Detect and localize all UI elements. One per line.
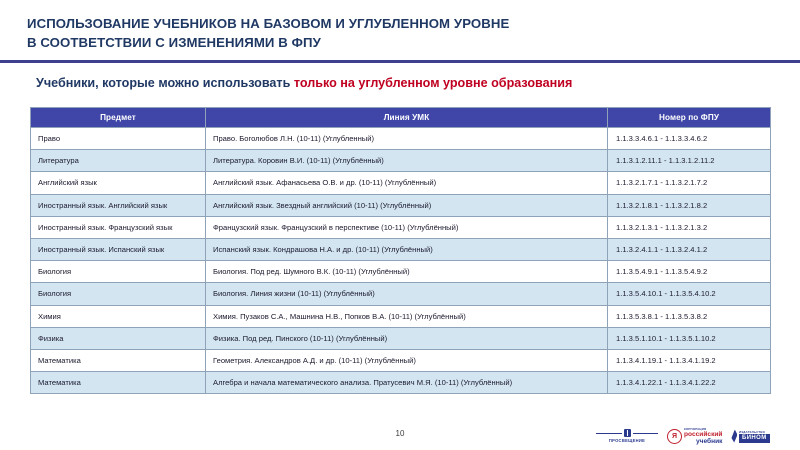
cell-fpu-number: 1.1.3.4.1.19.1 - 1.1.3.4.1.19.2 <box>608 349 771 371</box>
binom-wordmark: ИЗДАТЕЛЬСТВО БИНОМ <box>739 430 770 443</box>
table-row: ХимияХимия. Пузаков С.А., Машнина Н.В., … <box>31 305 771 327</box>
rule-right <box>633 433 659 435</box>
wordmark-line-2: учебник <box>684 438 722 445</box>
cell-umk-line: Испанский язык. Кондрашова Н.А. и др. (1… <box>206 238 608 260</box>
cell-umk-line: Биология. Линия жизни (10-11) (Углублённ… <box>206 283 608 305</box>
cell-subject: Химия <box>31 305 206 327</box>
cell-umk-line: Английский язык. Звездный английский (10… <box>206 194 608 216</box>
table-header-row: Предмет Линия УМК Номер по ФПУ <box>31 108 771 128</box>
textbooks-table: Предмет Линия УМК Номер по ФПУ ПравоПрав… <box>30 107 771 394</box>
cell-fpu-number: 1.1.3.5.4.10.1 - 1.1.3.5.4.10.2 <box>608 283 771 305</box>
table-head: Предмет Линия УМК Номер по ФПУ <box>31 108 771 128</box>
cell-umk-line: Геометрия. Александров А.Д. и др. (10-11… <box>206 349 608 371</box>
wordmark-line-1: российский <box>684 431 722 438</box>
table-row: Иностранный язык. Испанский языкИспански… <box>31 238 771 260</box>
column-header-subject: Предмет <box>31 108 206 128</box>
page-title-line-1: ИСПОЛЬЗОВАНИЕ УЧЕБНИКОВ НА БАЗОВОМ И УГЛ… <box>27 14 767 33</box>
cell-fpu-number: 1.1.3.2.4.1.1 - 1.1.3.2.4.1.2 <box>608 238 771 260</box>
rossiyskiy-uchebnik-wordmark: КОРПОРАЦИЯ российский учебник <box>684 427 722 445</box>
cell-subject: Иностранный язык. Английский язык <box>31 194 206 216</box>
page-title: ИСПОЛЬЗОВАНИЕ УЧЕБНИКОВ НА БАЗОВОМ И УГЛ… <box>27 14 767 52</box>
cell-umk-line: Биология. Под ред. Шумного В.К. (10-11) … <box>206 261 608 283</box>
page-title-line-2: В СООТВЕТСТВИИ С ИЗМЕНЕНИЯМИ В ФПУ <box>27 33 767 52</box>
cell-umk-line: Алгебра и начала математического анализа… <box>206 372 608 394</box>
textbooks-table-container: Предмет Линия УМК Номер по ФПУ ПравоПрав… <box>30 107 770 394</box>
cell-fpu-number: 1.1.3.5.3.8.1 - 1.1.3.5.3.8.2 <box>608 305 771 327</box>
column-header-fpu-number: Номер по ФПУ <box>608 108 771 128</box>
table-row: МатематикаГеометрия. Александров А.Д. и … <box>31 349 771 371</box>
title-divider <box>0 60 800 63</box>
table-row: МатематикаАлгебра и начала математическо… <box>31 372 771 394</box>
cell-subject: Биология <box>31 283 206 305</box>
table-row: БиологияБиология. Под ред. Шумного В.К. … <box>31 261 771 283</box>
section-subtitle: Учебники, которые можно использовать тол… <box>36 76 572 90</box>
cell-fpu-number: 1.1.3.2.1.7.1 - 1.1.3.2.1.7.2 <box>608 172 771 194</box>
column-header-umk-line: Линия УМК <box>206 108 608 128</box>
cell-fpu-number: 1.1.3.1.2.11.1 - 1.1.3.1.2.11.2 <box>608 150 771 172</box>
table-row: Иностранный язык. Английский языкАнглийс… <box>31 194 771 216</box>
table-row: ЛитератураЛитература. Коровин В.И. (10-1… <box>31 150 771 172</box>
cell-umk-line: Химия. Пузаков С.А., Машнина Н.В., Попко… <box>206 305 608 327</box>
table-body: ПравоПраво. Боголюбов Л.Н. (10-11) (Углу… <box>31 128 771 394</box>
cell-fpu-number: 1.1.3.5.4.9.1 - 1.1.3.5.4.9.2 <box>608 261 771 283</box>
cell-subject: Математика <box>31 372 206 394</box>
cell-umk-line: Английский язык. Афанасьева О.В. и др. (… <box>206 172 608 194</box>
subtitle-plain-text: Учебники, которые можно использовать <box>36 76 294 90</box>
table-row: Иностранный язык. Французский языкФранцу… <box>31 216 771 238</box>
cell-subject: Литература <box>31 150 206 172</box>
rossiyskiy-uchebnik-logo: Я КОРПОРАЦИЯ российский учебник <box>667 427 722 445</box>
cell-fpu-number: 1.1.3.2.1.8.1 - 1.1.3.2.1.8.2 <box>608 194 771 216</box>
cell-umk-line: Право. Боголюбов Л.Н. (10-11) (Углубленн… <box>206 128 608 150</box>
cell-subject: Биология <box>31 261 206 283</box>
cell-subject: Иностранный язык. Испанский язык <box>31 238 206 260</box>
cell-subject: Физика <box>31 327 206 349</box>
table-row: Английский языкАнглийский язык. Афанасье… <box>31 172 771 194</box>
table-row: ПравоПраво. Боголюбов Л.Н. (10-11) (Углу… <box>31 128 771 150</box>
seal-icon: Я <box>667 429 682 444</box>
cell-subject: Иностранный язык. Французский язык <box>31 216 206 238</box>
cell-fpu-number: 1.1.3.3.4.6.1 - 1.1.3.3.4.6.2 <box>608 128 771 150</box>
cell-subject: Английский язык <box>31 172 206 194</box>
subtitle-accent-text: только на углубленном уровне образования <box>294 76 573 90</box>
cell-fpu-number: 1.1.3.4.1.22.1 - 1.1.3.4.1.22.2 <box>608 372 771 394</box>
cell-fpu-number: 1.1.3.2.1.3.1 - 1.1.3.2.1.3.2 <box>608 216 771 238</box>
cell-umk-line: Физика. Под ред. Пинского (10-11) (Углуб… <box>206 327 608 349</box>
table-row: ФизикаФизика. Под ред. Пинского (10-11) … <box>31 327 771 349</box>
footer-logo-strip: ПРОСВЕЩЕНИЕ Я КОРПОРАЦИЯ российский учеб… <box>596 426 796 446</box>
prosveshcheniye-mark <box>596 429 658 438</box>
prosveshcheniye-wordmark: ПРОСВЕЩЕНИЕ <box>609 438 645 443</box>
table-row: БиологияБиология. Линия жизни (10-11) (У… <box>31 283 771 305</box>
cell-umk-line: Литература. Коровин В.И. (10-11) (Углубл… <box>206 150 608 172</box>
cell-fpu-number: 1.1.3.5.1.10.1 - 1.1.3.5.1.10.2 <box>608 327 771 349</box>
quill-icon <box>731 430 737 443</box>
binom-plate: БИНОМ <box>739 434 770 443</box>
cell-subject: Математика <box>31 349 206 371</box>
cell-umk-line: Французский язык. Французский в перспект… <box>206 216 608 238</box>
prosveshcheniye-logo: ПРОСВЕЩЕНИЕ <box>596 427 658 445</box>
book-icon <box>624 429 631 437</box>
binom-logo: ИЗДАТЕЛЬСТВО БИНОМ <box>731 427 769 445</box>
cell-subject: Право <box>31 128 206 150</box>
rule-left <box>596 433 622 435</box>
